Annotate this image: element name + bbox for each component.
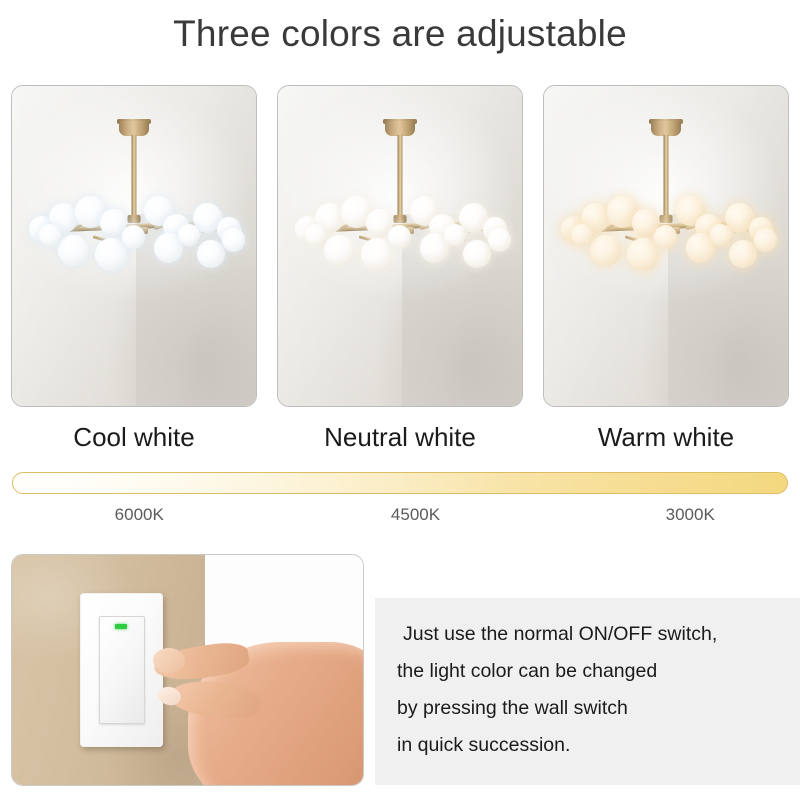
light-globe [444,224,466,246]
caption-neutral-white: Neutral white [278,419,522,459]
instruction-text: Just use the normal ON/OFF switch, the l… [397,616,792,764]
ceiling-mount [385,121,415,136]
light-globe [361,238,393,271]
light-globe [754,228,777,252]
instruction-line-3: by pressing the wall switch [397,690,792,727]
instruction-line-1: Just use the normal ON/OFF switch, [397,616,792,653]
temperature-tick-6000k: 6000K [115,505,164,525]
color-mode-captions: Cool white Neutral white Warm white [12,419,788,459]
light-globe [324,235,355,266]
light-globe [222,228,245,252]
photo-panel-cool-white[interactable] [12,86,256,406]
led-indicator-icon [115,624,127,629]
light-globe [39,224,61,246]
switch-rocker[interactable] [99,616,145,724]
photo-panel-neutral-white[interactable] [278,86,522,406]
light-globe [463,240,491,269]
instruction-line-4: in quick succession. [397,727,792,764]
caption-warm-white: Warm white [544,419,788,459]
light-globe [122,225,145,249]
light-globe [178,224,200,246]
drop-rod [398,135,403,215]
ceiling-mount [119,121,149,136]
color-temperature-ticks: 6000K 4500K 3000K [12,505,788,529]
light-globe [58,235,89,266]
light-globe [729,240,757,269]
switch-faceplate [80,593,162,747]
light-globe [571,224,593,246]
page-title: Three colors are adjustable [0,6,800,62]
center-hub [128,215,141,223]
light-globe [95,238,127,271]
light-globe [710,224,732,246]
light-globe [590,235,621,266]
temperature-tick-4500k: 4500K [391,505,440,525]
temperature-tick-3000k: 3000K [666,505,715,525]
photo-wall-switch[interactable] [12,555,363,785]
photo-panel-warm-white[interactable] [544,86,788,406]
color-mode-gallery [12,86,788,406]
light-globe [654,225,677,249]
color-temperature-bar [12,472,788,494]
light-globe [197,240,225,269]
light-globe [305,224,327,246]
light-globe [627,238,659,271]
light-globe [488,228,511,252]
caption-cool-white: Cool white [12,419,256,459]
drop-rod [132,135,137,215]
chandelier-fixture-neutral [278,86,522,406]
center-hub [394,215,407,223]
light-globe [388,225,411,249]
ceiling-mount [651,121,681,136]
center-hub [660,215,673,223]
chandelier-fixture-warm [544,86,788,406]
instruction-panel: Just use the normal ON/OFF switch, the l… [375,598,800,785]
instruction-line-2: the light color can be changed [397,653,792,690]
hand-index-fingertip [153,648,185,673]
drop-rod [664,135,669,215]
chandelier-fixture-cool [12,86,256,406]
